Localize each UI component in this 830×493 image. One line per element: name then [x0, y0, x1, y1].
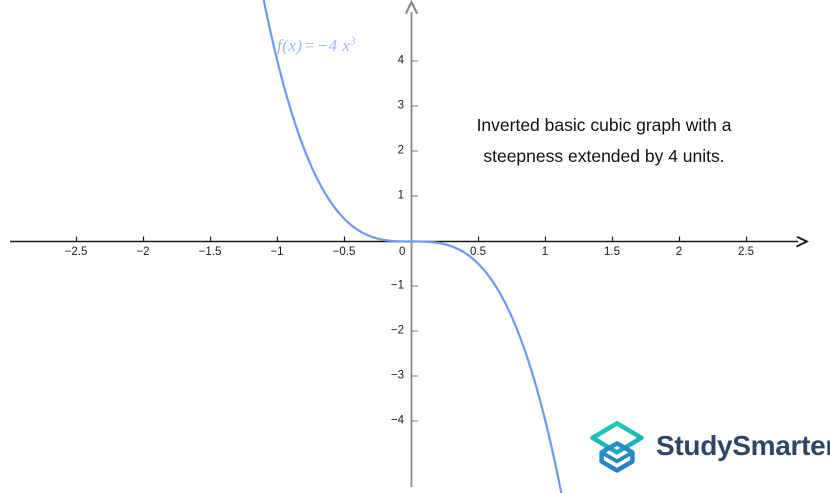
y-tick-label: −4: [391, 415, 404, 427]
x-tick-label: −2: [136, 247, 149, 259]
x-tick-label: −2.5: [65, 247, 88, 259]
origin-label: 0: [399, 247, 405, 259]
equals-sign: =: [303, 36, 317, 55]
studysmarter-logo: StudySmarter: [588, 417, 830, 475]
x-tick-label: −1.5: [199, 247, 222, 259]
x-tick-label: 1.5: [604, 247, 620, 259]
annotation-text: Inverted basic cubic graph with a steepn…: [434, 110, 774, 171]
x-tick-label: 2: [676, 247, 682, 259]
annotation-line-1: Inverted basic cubic graph with a: [434, 110, 774, 141]
x-tick-label: −1: [270, 247, 283, 259]
y-tick-label: −3: [391, 370, 404, 382]
y-tick-label: −2: [391, 325, 404, 337]
y-tick-label: −1: [391, 280, 404, 292]
y-tick-label: 3: [398, 100, 404, 112]
x-tick-label: −0.5: [333, 247, 356, 259]
function-curve-visible: [263, 0, 562, 493]
y-tick-label: 4: [398, 55, 404, 67]
x-tick-label: 1: [542, 247, 548, 259]
brand-name: StudySmarter: [656, 432, 830, 460]
x-tick-label: 0.5: [470, 247, 486, 259]
y-tick-label: 1: [398, 190, 404, 202]
function-equation-label: f(x)=−4 x3: [277, 36, 356, 56]
function-coefficient: −4: [317, 36, 338, 55]
x-tick-label: 2.5: [738, 247, 754, 259]
y-tick-label: 2: [398, 145, 404, 157]
function-name: f(x): [277, 36, 303, 55]
graph-canvas: −2.5 −2 −1.5 −1 −0.5 0.5 1 1.5 2 2.5 4 3…: [0, 0, 830, 493]
annotation-line-2: steepness extended by 4 units.: [434, 141, 774, 172]
open-box-logo-icon: [588, 417, 646, 475]
function-exponent: 3: [350, 36, 356, 47]
